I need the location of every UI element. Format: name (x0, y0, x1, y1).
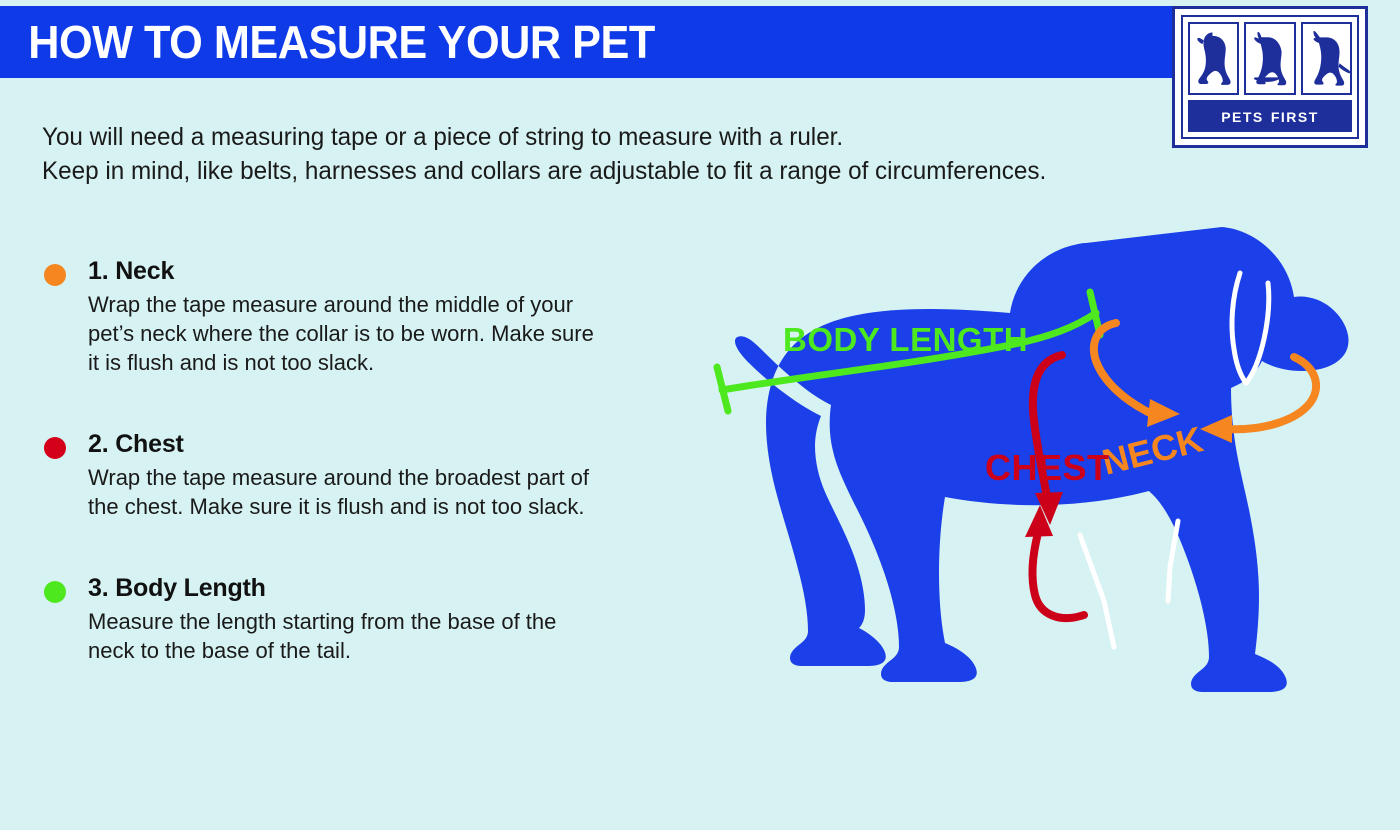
step-body-neck: Wrap the tape measure around the middle … (88, 290, 608, 377)
step-title-body-length: 3. Body Length (88, 573, 620, 603)
step-item-body-length: 3. Body Length Measure the length starti… (40, 573, 620, 665)
step-body-body-length: Measure the length starting from the bas… (88, 607, 608, 665)
shepherd-dog-silhouette-icon (1301, 22, 1352, 95)
logo-dog-panels (1188, 22, 1352, 95)
bullet-neck (44, 264, 66, 286)
step-body-chest: Wrap the tape measure around the broades… (88, 463, 608, 521)
intro-line-2: Keep in mind, like belts, harnesses and … (42, 154, 1187, 188)
page-title: HOW TO MEASURE YOUR PET (0, 15, 655, 69)
front-leg-separator-near (1080, 535, 1114, 647)
body-length-label: BODY LENGTH (783, 321, 1028, 358)
header-bar: HOW TO MEASURE YOUR PET (0, 6, 1172, 78)
step-title-chest: 2. Chest (88, 429, 620, 459)
step-item-chest: 2. Chest Wrap the tape measure around th… (40, 429, 620, 521)
howling-dog-silhouette-icon (1244, 22, 1295, 95)
bullet-chest (44, 437, 66, 459)
intro-paragraph: You will need a measuring tape or a piec… (42, 120, 1222, 188)
bullet-body-length (44, 581, 66, 603)
logo-wordmark-text: Pets First (1221, 105, 1319, 128)
measurement-steps-list: 1. Neck Wrap the tape measure around the… (40, 256, 620, 709)
front-leg-separator-far (1168, 521, 1178, 601)
chest-label: CHEST (985, 447, 1110, 488)
dog-measurement-diagram: BODY LENGTH NECK CHEST (610, 215, 1400, 815)
step-item-neck: 1. Neck Wrap the tape measure around the… (40, 256, 620, 377)
step-title-neck: 1. Neck (88, 256, 620, 286)
sitting-dog-silhouette-icon (1188, 22, 1239, 95)
infographic-page: HOW TO MEASURE YOUR PET (0, 0, 1400, 830)
intro-line-1: You will need a measuring tape or a piec… (42, 120, 1187, 154)
